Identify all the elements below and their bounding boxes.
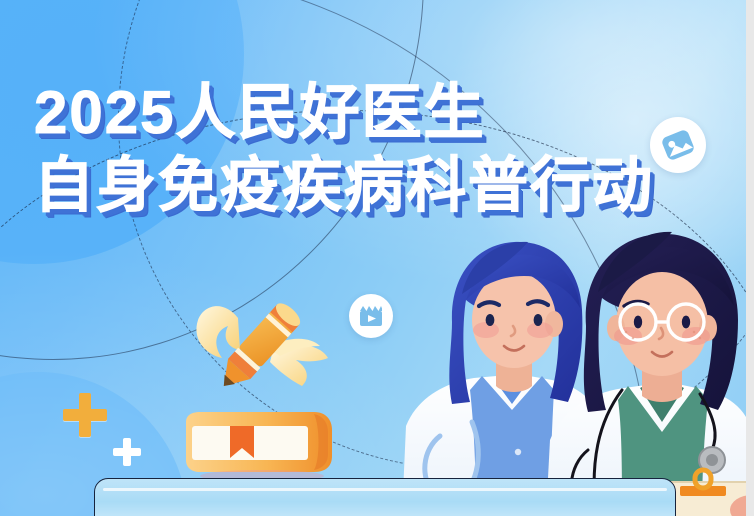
content-card[interactable] — [94, 478, 676, 516]
book-icon — [176, 408, 336, 478]
image-icon — [659, 126, 697, 164]
headline: 2025人民好医生 自身免疫疾病科普行动 — [34, 84, 654, 216]
banner-root: 2025人民好医生 自身免疫疾病科普行动 — [0, 0, 754, 516]
page-edge-strip — [746, 0, 754, 516]
video-clapper-icon — [357, 302, 385, 330]
headline-line-2: 自身免疫疾病科普行动 — [34, 157, 654, 216]
headline-line-1: 2025人民好医生 — [34, 84, 654, 143]
card-top-ridge — [103, 488, 667, 491]
winged-pencil-icon — [168, 296, 338, 416]
cross-white-decor — [113, 438, 141, 466]
photo-badge[interactable] — [650, 117, 706, 173]
doctor-right — [546, 232, 754, 516]
video-badge[interactable] — [349, 294, 393, 338]
cross-orange-decor — [63, 393, 107, 437]
doctors-illustration — [400, 214, 754, 516]
